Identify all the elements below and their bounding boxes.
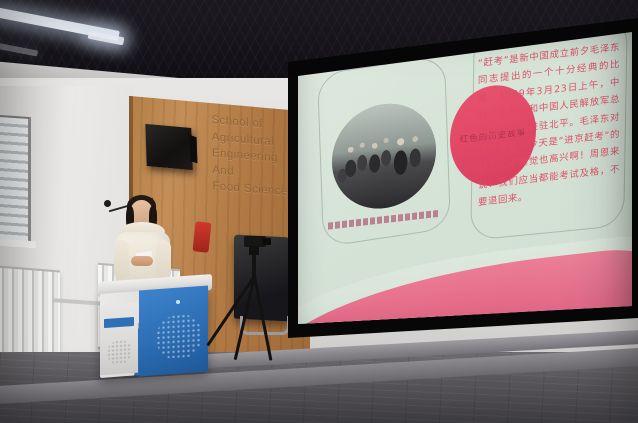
slide-body-text: “赶考”是新中国成立前夕毛泽东同志提出的一个十分经典的比喻。1949年3月23日…: [478, 39, 620, 212]
podium: [98, 278, 212, 374]
lecture-hall-photo: School of Agricultural Engineering And F…: [0, 0, 638, 423]
presenter-hands: [131, 256, 153, 266]
microphone-icon: [104, 200, 111, 207]
window-blinds: [0, 115, 31, 247]
photo-faces: [332, 98, 436, 214]
presenter-arm-left: [114, 240, 129, 280]
radiator: [0, 266, 60, 361]
presenter: [112, 196, 174, 288]
projection-screen: 红色的历史故事 “赶考”是新中国成立前夕毛泽东同志提出的一个十分经典的比喻。19…: [286, 18, 638, 348]
historical-photo: [332, 98, 436, 214]
tripod-leg: [253, 276, 272, 361]
red-object: [192, 221, 211, 253]
wall-speaker: [145, 124, 192, 170]
podium-indicator-light: [176, 300, 180, 304]
presenter-arm-right: [156, 240, 171, 280]
camera-lens: [262, 238, 271, 245]
